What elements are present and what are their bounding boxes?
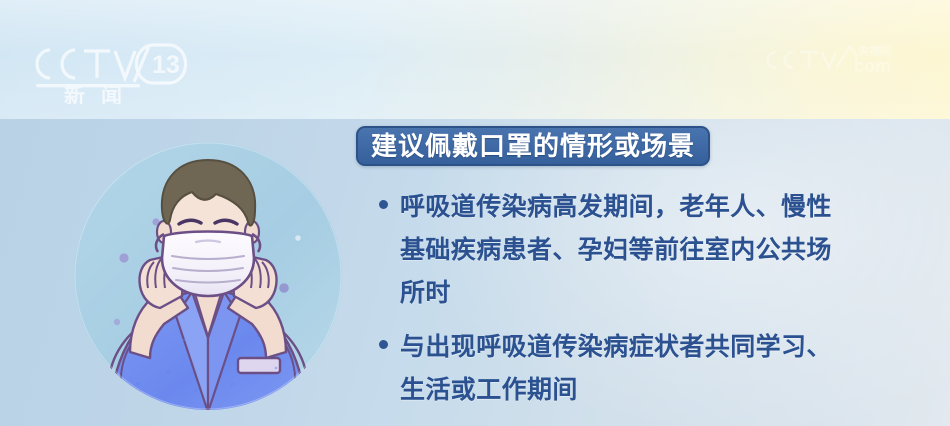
- list-item-line: 基础疾病患者、孕妇等前往室内公共场: [400, 229, 939, 272]
- list-item-text: 与出现呼吸道传染病症状者共同学习、 生活或工作期间: [400, 326, 939, 412]
- bullet-dot-icon: [379, 200, 388, 209]
- svg-text:新: 新: [64, 84, 85, 104]
- list-item: 呼吸道传染病高发期间，老年人、慢性 基础疾病患者、孕妇等前往室内公共场 所时: [379, 186, 939, 315]
- list-item-line: 与出现呼吸道传染病症状者共同学习、: [400, 326, 939, 369]
- list-item: 与出现呼吸道传染病症状者共同学习、 生活或工作期间: [379, 326, 939, 412]
- page-title: 建议佩戴口罩的情形或场景: [371, 133, 695, 159]
- bullet-dot-icon: [379, 340, 388, 349]
- list-item-text: 呼吸道传染病高发期间，老年人、慢性 基础疾病患者、孕妇等前往室内公共场 所时: [400, 186, 939, 315]
- list-item-line: 呼吸道传染病高发期间，老年人、慢性: [400, 186, 939, 229]
- svg-text:13: 13: [152, 51, 180, 79]
- svg-text:闻: 闻: [101, 84, 122, 104]
- recommendation-list: 呼吸道传染病高发期间，老年人、慢性 基础疾病患者、孕妇等前往室内公共场 所时 与…: [379, 186, 939, 423]
- svg-text:com: com: [854, 56, 891, 76]
- title-banner: 建议佩戴口罩的情形或场景: [356, 126, 710, 166]
- list-item-line: 所时: [400, 272, 939, 315]
- broadcast-infographic-screen: 13 新 闻 com 央视网: [0, 0, 950, 426]
- cctv-com-watermark: com 央视网: [762, 42, 930, 80]
- person-wearing-mask-illustration: [72, 140, 344, 412]
- list-item-line: 生活或工作期间: [400, 369, 939, 412]
- cctv13-channel-logo: 13 新 闻: [22, 32, 192, 104]
- svg-text:央视网: 央视网: [858, 44, 891, 58]
